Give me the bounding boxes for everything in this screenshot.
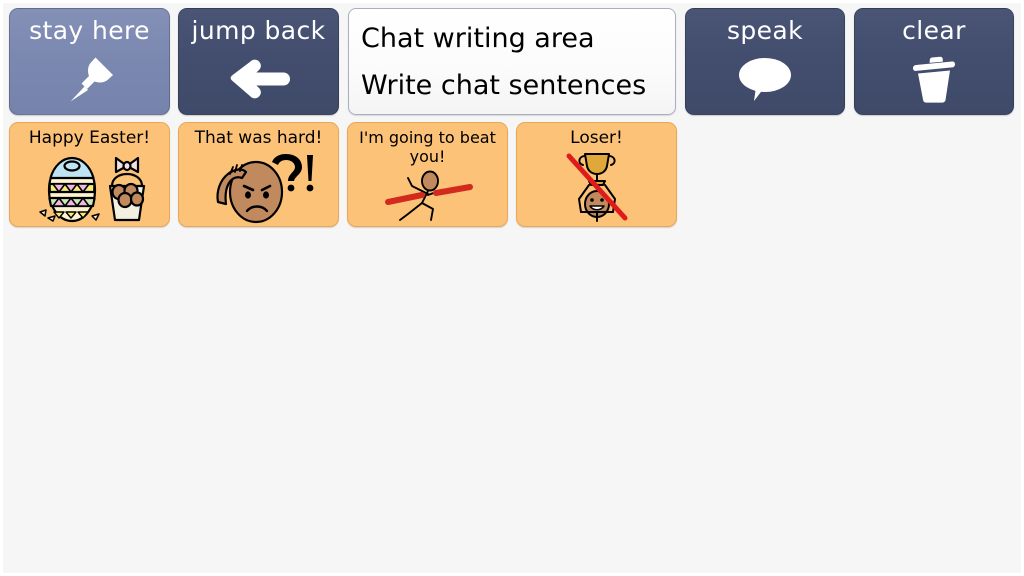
jump-back-button[interactable]: jump back: [178, 8, 339, 115]
chat-grid-page: stay here jump back Chat writing area Wr: [0, 0, 1024, 576]
confused-face-icon: [179, 148, 338, 226]
chat-line-1: Chat writing area: [361, 15, 663, 62]
phrase-card-label: I'm going to beat you!: [348, 123, 507, 166]
runner-finish-line-icon: [348, 166, 507, 226]
phrase-card-that-was-hard[interactable]: That was hard!: [178, 122, 339, 227]
speak-label: speak: [727, 9, 803, 43]
trophy-crossed-out-icon: [517, 148, 676, 226]
speak-button[interactable]: speak: [685, 8, 845, 115]
easter-egg-basket-icon: [10, 148, 169, 226]
jump-back-label: jump back: [192, 9, 326, 43]
clear-button[interactable]: clear: [854, 8, 1014, 115]
stay-here-button[interactable]: stay here: [9, 8, 170, 115]
phrase-card-happy-easter[interactable]: Happy Easter!: [9, 122, 170, 227]
pushpin-icon: [10, 43, 169, 114]
phrase-card-loser[interactable]: Loser!: [516, 122, 677, 227]
phrase-card-label: That was hard!: [179, 123, 338, 148]
phrase-card-label: Loser!: [517, 123, 676, 148]
phrase-card-label: Happy Easter!: [10, 123, 169, 148]
phrase-card-im-going-to-beat-you[interactable]: I'm going to beat you!: [347, 122, 508, 227]
chat-writing-area[interactable]: Chat writing area Write chat sentences: [348, 8, 676, 115]
clear-label: clear: [902, 9, 966, 43]
trash-can-icon: [855, 43, 1013, 114]
chat-line-2: Write chat sentences: [361, 62, 663, 109]
speech-bubble-icon: [686, 43, 844, 114]
stay-here-label: stay here: [29, 9, 150, 43]
arrow-left-icon: [179, 43, 338, 114]
